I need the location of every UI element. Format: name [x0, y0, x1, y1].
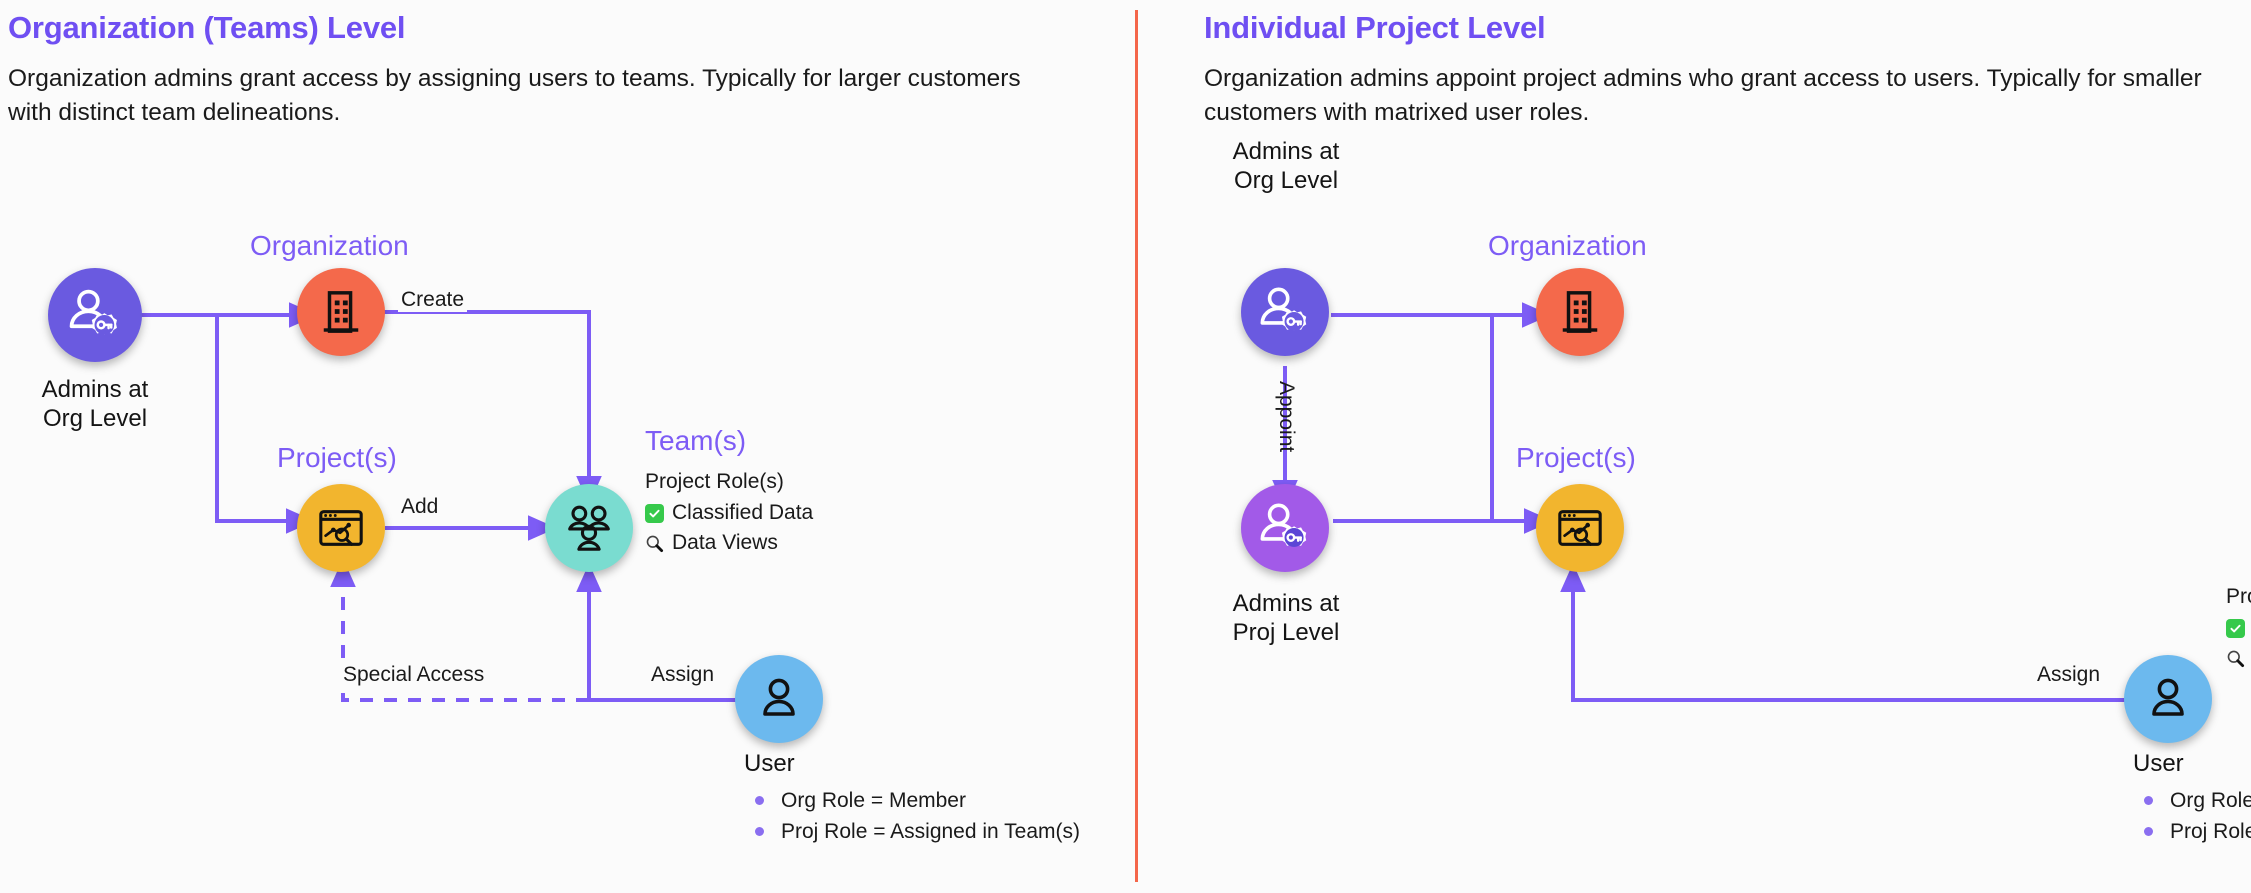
check-icon	[645, 504, 664, 523]
project-dashboard-icon	[316, 503, 366, 553]
role-item-data-views: Data Views	[2226, 645, 2251, 671]
node-user[interactable]	[2124, 655, 2212, 743]
roles-title: Project Role(s)	[2226, 585, 2251, 609]
panel-description: Organization admins grant access by assi…	[8, 62, 1068, 130]
edge-label-create: Create	[398, 288, 467, 312]
user-icon	[2144, 675, 2192, 723]
edge-label-special-access: Special Access	[340, 663, 487, 687]
node-label-admins-at-org-level: Admins at Org Level	[15, 376, 175, 434]
user-project-roles: Project Role(s) Classified Data Data Vie…	[2226, 585, 2251, 676]
node-projects[interactable]	[1536, 484, 1624, 572]
node-organization[interactable]	[297, 268, 385, 356]
node-organization[interactable]	[1536, 268, 1624, 356]
edge-label-add: Add	[398, 495, 441, 519]
bullet-label: Proj Role = Assigned in Project(s)	[2170, 821, 2251, 842]
node-admins-at-org-level[interactable]	[1241, 268, 1329, 356]
node-label-admins-at-org-level: Admins at Org Level	[1206, 138, 1366, 196]
admin-key-icon	[1256, 283, 1314, 341]
team-project-roles: Project Role(s) Classified Data Data Vie…	[645, 470, 813, 561]
node-label-user: User	[744, 750, 795, 779]
check-icon	[2226, 619, 2245, 638]
node-projects[interactable]	[297, 484, 385, 572]
magnifier-icon	[645, 534, 664, 553]
bullet-label: Proj Role = Assigned in Team(s)	[781, 821, 1080, 842]
node-category-organization: Organization	[250, 230, 409, 262]
flow-connectors-left	[0, 0, 1136, 893]
flow-connectors-right	[1136, 0, 2251, 893]
bullet-label: Org Role = Member	[2170, 790, 2251, 811]
roles-title: Project Role(s)	[645, 470, 813, 494]
building-icon	[1557, 289, 1603, 335]
panel-description: Organization admins appoint project admi…	[1204, 62, 2234, 130]
building-icon	[318, 289, 364, 335]
node-admins-at-org-level[interactable]	[48, 268, 142, 362]
edge-label-appoint: Appoint	[1274, 378, 1298, 455]
panel-title: Organization (Teams) Level	[8, 10, 405, 46]
project-dashboard-icon	[1555, 503, 1605, 553]
node-teams[interactable]	[545, 484, 633, 572]
admin-key-icon	[1256, 499, 1314, 557]
node-user[interactable]	[735, 655, 823, 743]
user-role-bullets: Org Role = Member Proj Role = Assigned i…	[2144, 790, 2251, 852]
node-category-projects: Project(s)	[277, 442, 397, 474]
role-label: Data Views	[672, 530, 778, 556]
bullet-label: Org Role = Member	[781, 790, 966, 811]
node-category-projects: Project(s)	[1516, 442, 1636, 474]
team-group-icon	[562, 501, 616, 555]
magnifier-icon	[2226, 649, 2245, 668]
node-category-teams: Team(s)	[645, 425, 746, 457]
bullet-dot	[755, 827, 764, 836]
bullet-dot	[2144, 796, 2153, 805]
node-category-organization: Organization	[1488, 230, 1647, 262]
bullet-item: Org Role = Member	[755, 790, 1080, 811]
node-label-admins-at-proj-level: Admins at Proj Level	[1206, 590, 1366, 648]
admin-key-icon	[65, 285, 125, 345]
bullet-item: Proj Role = Assigned in Project(s)	[2144, 821, 2251, 842]
panel-organization-teams-level: Organization (Teams) Level Organization …	[0, 0, 1136, 893]
role-item-classified-data: Classified Data	[645, 500, 813, 526]
user-icon	[755, 675, 803, 723]
panel-title: Individual Project Level	[1204, 10, 1545, 46]
bullet-dot	[755, 796, 764, 805]
edge-label-assign: Assign	[648, 663, 717, 687]
node-admins-at-proj-level[interactable]	[1241, 484, 1329, 572]
panel-individual-project-level: Individual Project Level Organization ad…	[1136, 0, 2251, 893]
bullet-dot	[2144, 827, 2153, 836]
bullet-item: Org Role = Member	[2144, 790, 2251, 811]
role-item-data-views: Data Views	[645, 530, 813, 556]
role-label: Classified Data	[672, 500, 813, 526]
node-label-user: User	[2133, 750, 2184, 779]
edge-label-assign: Assign	[2034, 663, 2103, 687]
bullet-item: Proj Role = Assigned in Team(s)	[755, 821, 1080, 842]
role-item-classified-data: Classified Data	[2226, 615, 2251, 641]
user-role-bullets: Org Role = Member Proj Role = Assigned i…	[755, 790, 1080, 852]
